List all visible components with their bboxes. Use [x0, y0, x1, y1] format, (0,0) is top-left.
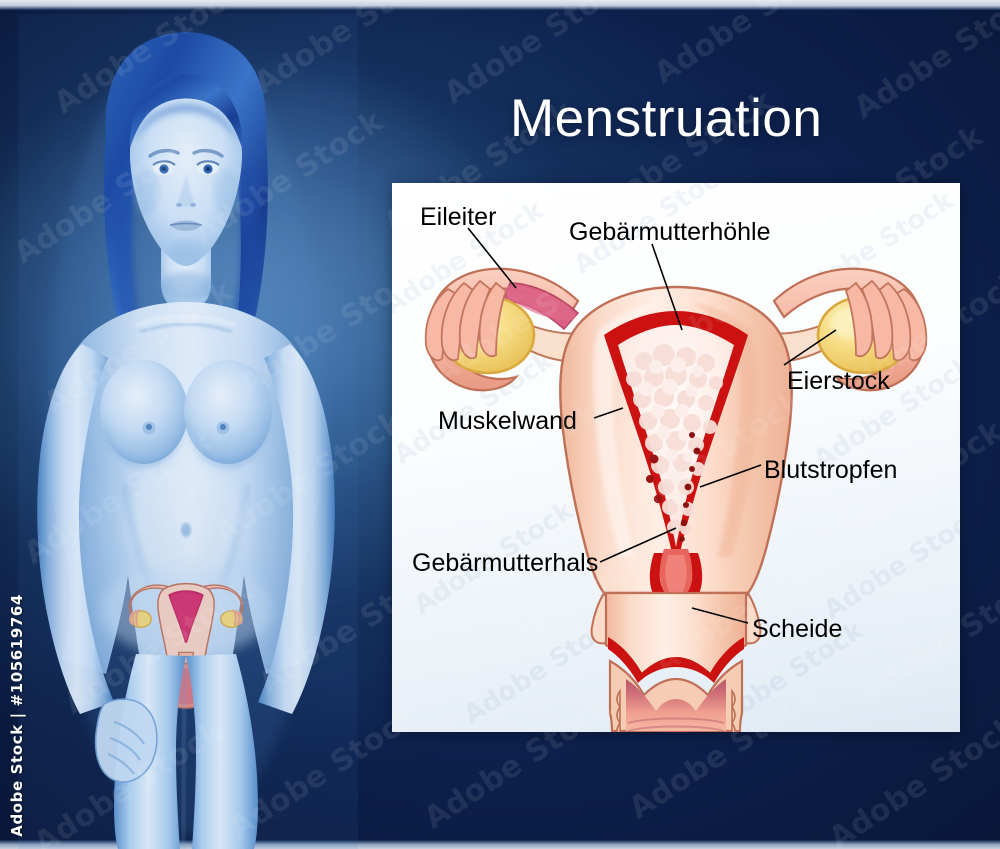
label-scheide: Scheide — [752, 617, 842, 642]
label-blutstropfen: Blutstropfen — [764, 458, 897, 483]
label-muskelwand: Muskelwand — [438, 409, 577, 434]
page-title: Menstruation — [510, 88, 822, 149]
label-gebaermutterhals: Gebärmutterhals — [412, 551, 598, 576]
stock-id-watermark: Adobe Stock | #105619764 — [8, 594, 26, 837]
top-edge-strip — [0, 0, 1000, 10]
female-body-figure — [18, 14, 358, 849]
uterus-diagram-panel: Adobe Stock Adobe Stock Adobe Stock Adob… — [392, 183, 960, 732]
label-eierstock: Eierstock — [787, 369, 890, 394]
label-gebaermutterhoehle: Gebärmutterhöhle — [569, 220, 771, 245]
illustration-canvas: Adobe Stock Adobe Stock Adobe Stock Adob… — [0, 0, 1000, 849]
label-eileiter: Eileiter — [420, 205, 496, 230]
